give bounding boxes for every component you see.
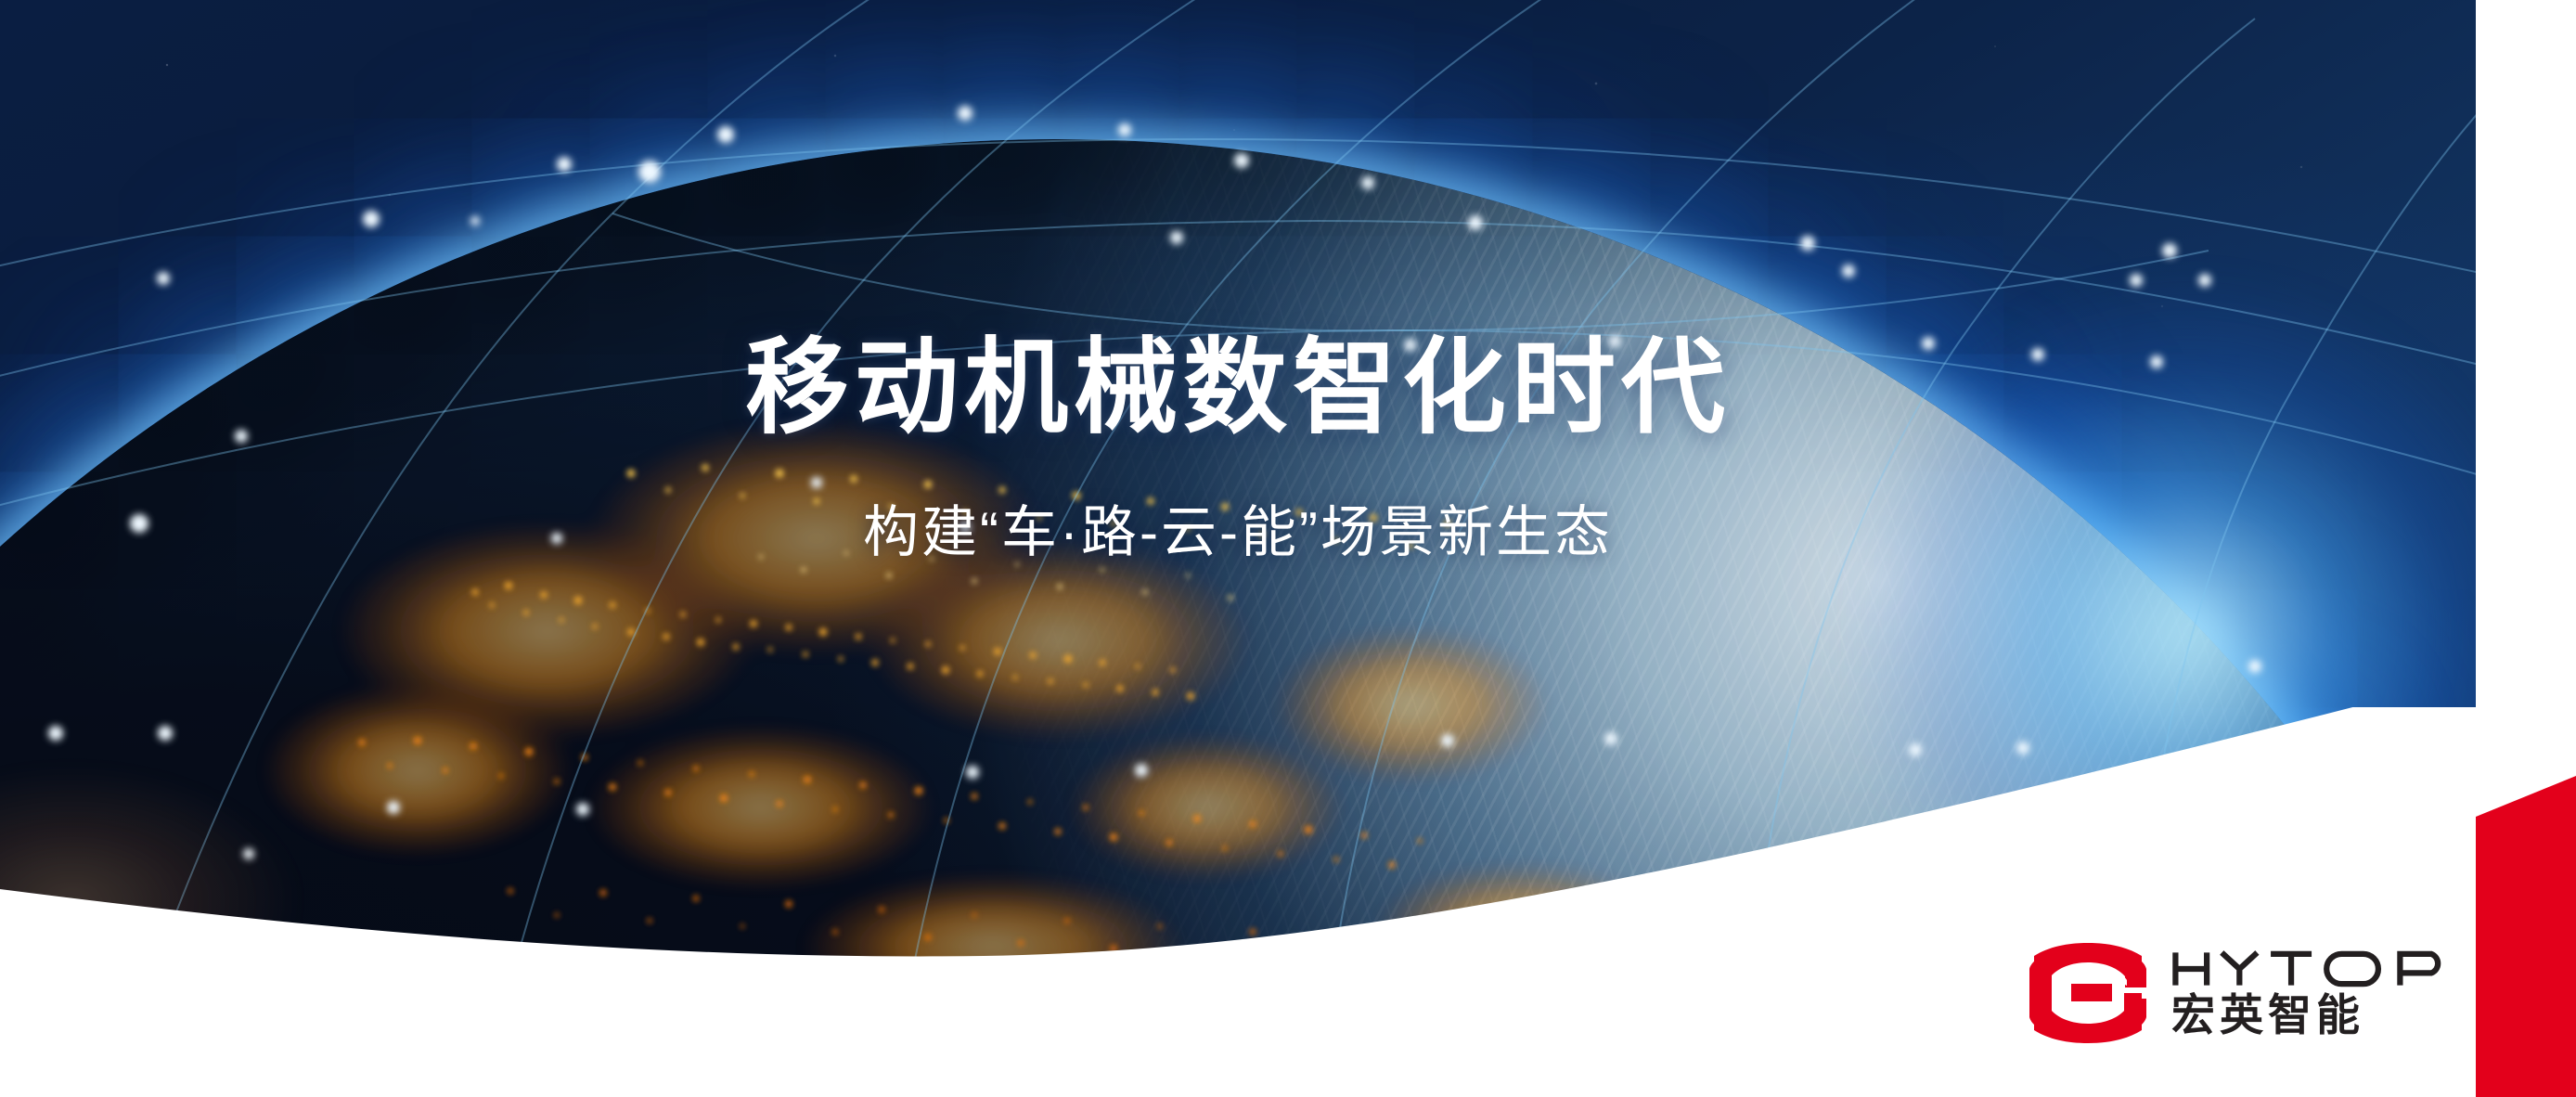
presentation-slide: 移动机械数智化时代 构建“车·路-云-能”场景新生态 [0, 0, 2576, 1097]
logo-wordmark: 宏英智能 [2171, 949, 2457, 1038]
hero-background-image: 移动机械数智化时代 构建“车·路-云-能”场景新生态 [0, 0, 2476, 1097]
logo-chinese-name: 宏英智能 [2171, 993, 2457, 1038]
brand-logo: 宏英智能 [2029, 943, 2457, 1043]
hytop-g-mark-icon [2029, 943, 2147, 1043]
logo-chinese-label: 宏英智能 [2171, 990, 2364, 1039]
logo-latin-hytop [2171, 949, 2457, 989]
right-white-margin [2476, 0, 2576, 1097]
